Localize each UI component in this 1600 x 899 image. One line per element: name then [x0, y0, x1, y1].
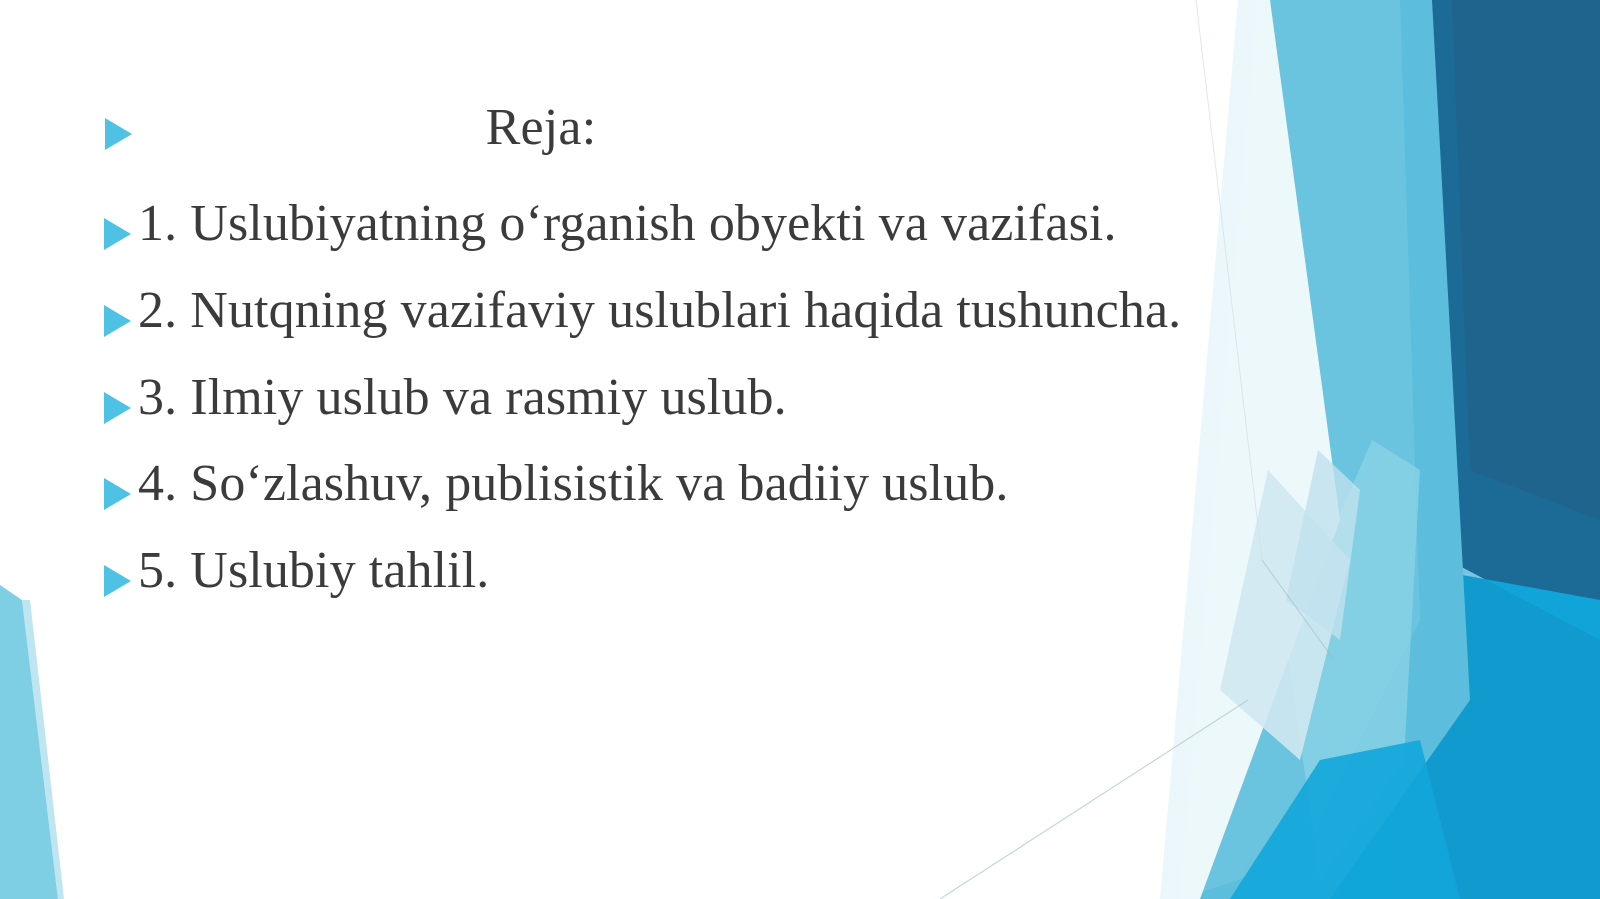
page-title: Reja:	[96, 98, 986, 157]
triangle-right-icon	[104, 392, 131, 424]
list-item-label: 3. Ilmiy uslub va rasmiy uslub.	[138, 368, 787, 427]
list-item-label: 1. Uslubiyatning o‘rganish obyekti va va…	[138, 194, 1117, 253]
list-item-label: 5. Uslubiy tahlil.	[138, 541, 489, 600]
triangle-right-icon	[104, 565, 131, 597]
slide-title-row: Reja:	[96, 108, 1096, 188]
list-item-label: 4. So‘zlashuv, publisistik va badiiy usl…	[138, 454, 1008, 513]
slide-content: Reja: 1. Uslubiyatning o‘rganish obyekti…	[0, 0, 1600, 899]
triangle-right-icon	[104, 218, 131, 250]
triangle-right-icon	[104, 305, 131, 337]
list-item-label: 2. Nutqning vazifaviy uslublari haqida t…	[138, 281, 1181, 340]
presentation-slide: Reja: 1. Uslubiyatning o‘rganish obyekti…	[0, 0, 1600, 899]
triangle-right-icon	[104, 478, 131, 510]
